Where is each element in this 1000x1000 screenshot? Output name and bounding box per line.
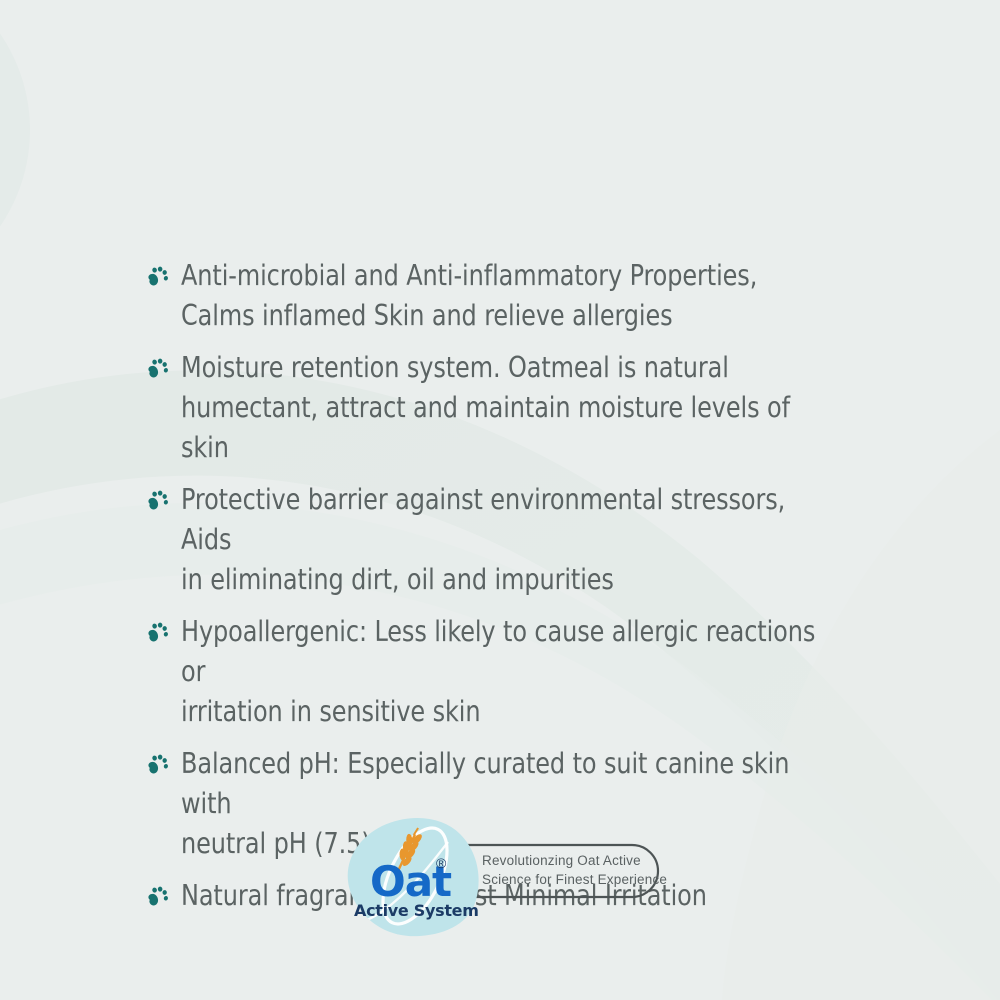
paw-icon: [145, 490, 169, 514]
decor-circle-top-left: [0, 0, 30, 300]
logo-trademark-symbol: ®: [436, 855, 447, 871]
logo-brand-subtitle: Active System: [354, 901, 479, 920]
paw-icon: [145, 358, 169, 382]
paw-icon: [145, 266, 169, 290]
list-item-label: Protective barrier against environmental…: [181, 480, 839, 600]
tagline-line-1: Revolutionzing Oat Active: [482, 853, 641, 868]
poster-canvas: Anti-microbial and Anti-inflammatory Pro…: [0, 0, 1000, 1000]
oat-active-system-logo: Revolutionzing Oat Active Science for Fi…: [330, 812, 700, 942]
list-item: Moisture retention system. Oatmeal is na…: [145, 348, 885, 468]
logo-lockup: Revolutionzing Oat Active Science for Fi…: [330, 812, 700, 942]
paw-icon: [145, 622, 169, 646]
list-item: Protective barrier against environmental…: [145, 480, 885, 600]
list-item-label: Moisture retention system. Oatmeal is na…: [181, 348, 839, 468]
list-item: Hypoallergenic: Less likely to cause all…: [145, 612, 885, 732]
list-item: Anti-microbial and Anti-inflammatory Pro…: [145, 256, 885, 336]
paw-icon: [145, 754, 169, 778]
list-item-label: Hypoallergenic: Less likely to cause all…: [181, 612, 839, 732]
tagline-line-2: Science for Finest Experience: [482, 872, 667, 887]
paw-icon: [145, 886, 169, 910]
list-item-label: Anti-microbial and Anti-inflammatory Pro…: [181, 256, 839, 336]
